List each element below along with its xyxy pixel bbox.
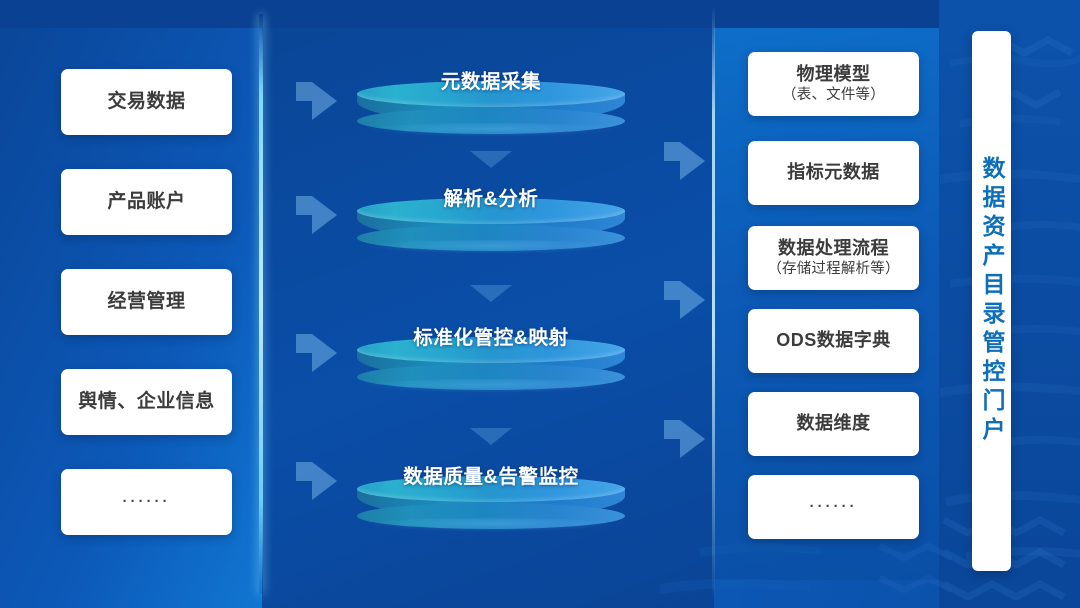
arrow-right-icon-5 [680,142,705,180]
card-ellipsis: ······ [810,498,858,516]
list-item[interactable]: 产品账户 [61,169,232,235]
list-item[interactable]: ······ [748,475,919,539]
arrow-right-icon-4-tail [296,462,312,481]
pipeline-stage[interactable]: 标准化管控&映射 [357,337,625,393]
list-item[interactable]: ······ [61,469,232,535]
list-item[interactable]: 数据维度 [748,392,919,456]
card-title: 交易数据 [107,90,185,113]
pipeline-stage-label: 标准化管控&映射 [357,321,625,350]
card-title: 经营管理 [107,290,185,313]
arrow-right-icon-2-tail [296,196,312,215]
arrow-right-icon-5-tail [664,142,680,161]
portal-title-bar[interactable]: 数据资产目录管控门户 [972,31,1011,571]
arrow-right-icon-4 [312,462,337,500]
pipeline-stage-label: 数据质量&告警监控 [357,460,625,489]
card-title: 指标元数据 [787,162,880,184]
cylinder-glow [365,240,617,254]
list-item[interactable]: 数据处理流程 （存储过程解析等） [748,226,919,290]
card-subtitle: （存储过程解析等） [767,261,899,279]
background-top-band [0,0,1080,28]
arrow-right-icon-3-tail [296,334,312,353]
pipeline-stage[interactable]: 解析&分析 [357,198,625,254]
card-title: 数据处理流程 [778,238,889,260]
pipeline-stage[interactable]: 元数据采集 [357,81,625,137]
arrow-right-icon-1-tail [296,82,312,101]
arrow-down-icon-2 [470,285,512,302]
list-item[interactable]: ODS数据字典 [748,309,919,373]
arrow-down-icon-3 [470,428,512,445]
pipeline-stage-label: 解析&分析 [357,182,625,211]
arrow-right-icon-6 [680,281,705,319]
card-subtitle: （表、文件等） [782,87,885,105]
list-item[interactable]: 经营管理 [61,269,232,335]
pipeline-stage-label: 元数据采集 [357,65,625,94]
list-item[interactable]: 舆情、企业信息 [61,369,232,435]
cylinder-glow [365,518,617,532]
cyan-divider-line [259,14,263,594]
card-ellipsis: ······ [123,493,171,511]
card-title: ODS数据字典 [776,330,891,352]
list-item[interactable]: 交易数据 [61,69,232,135]
cylinder-glow [365,123,617,137]
diagram-canvas: 交易数据 产品账户 经营管理 舆情、企业信息 ······ 元数据采集 解析&分… [0,0,1080,608]
arrow-down-icon-1 [470,151,512,168]
card-title: 舆情、企业信息 [78,390,215,413]
arrow-right-icon-6-tail [664,281,680,300]
right-divider-line [712,6,715,602]
card-title: 数据维度 [797,413,871,435]
portal-title-text: 数据资产目录管控门户 [980,156,1003,446]
arrow-right-icon-3 [312,334,337,372]
card-title: 产品账户 [107,190,185,213]
pipeline-stage[interactable]: 数据质量&告警监控 [357,476,625,532]
list-item[interactable]: 指标元数据 [748,141,919,205]
arrow-right-icon-1 [312,82,337,120]
arrow-right-icon-2 [312,196,337,234]
arrow-right-icon-7 [680,420,705,458]
arrow-right-icon-7-tail [664,420,680,439]
list-item[interactable]: 物理模型 （表、文件等） [748,52,919,116]
card-title: 物理模型 [797,64,871,86]
cylinder-glow [365,379,617,393]
